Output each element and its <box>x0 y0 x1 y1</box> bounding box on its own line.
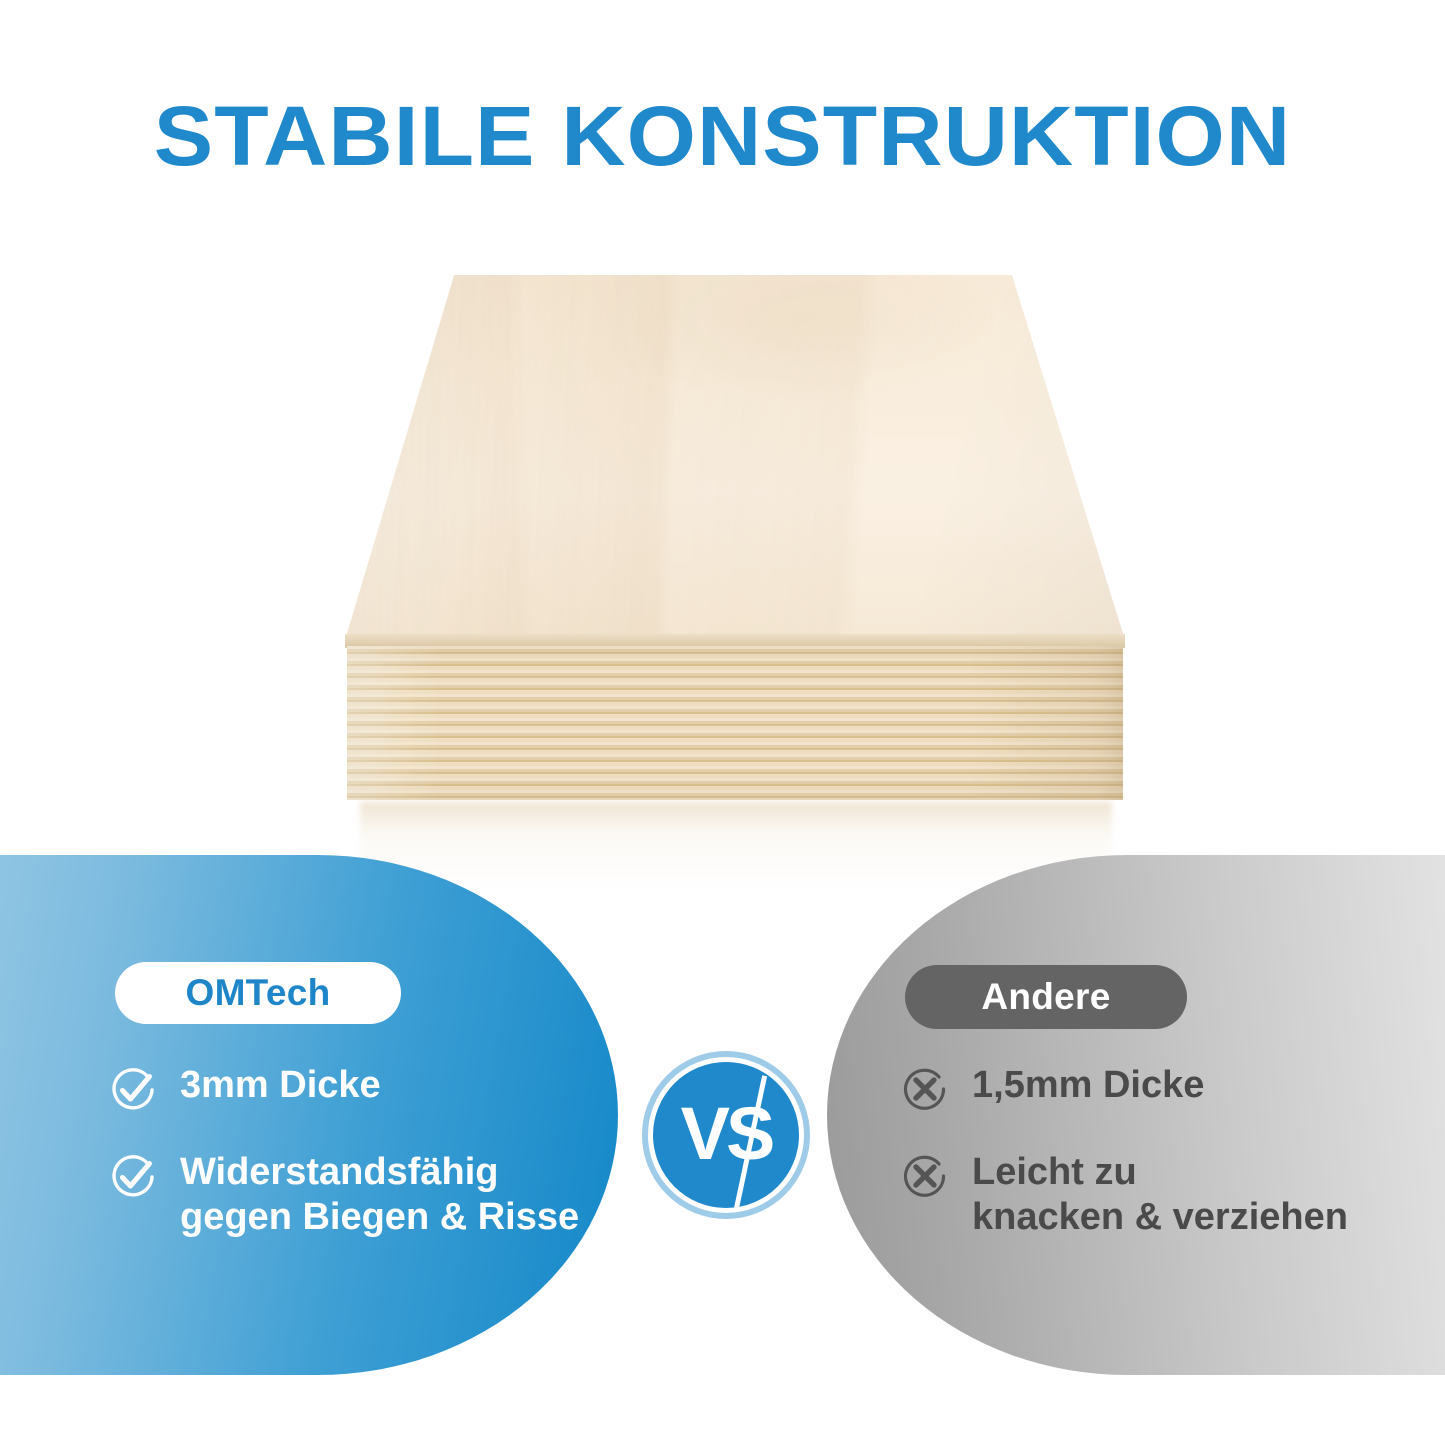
feature-row-theirs-1: 1,5mm Dicke <box>900 1063 1204 1115</box>
check-circle-icon <box>108 1065 158 1115</box>
feature-text-theirs-2: Leicht zu knacken & verziehen <box>972 1150 1348 1240</box>
feature-text-theirs-1: 1,5mm Dicke <box>972 1063 1204 1108</box>
feature-text-theirs-2-line1: Leicht zu <box>972 1151 1137 1193</box>
x-circle-icon <box>900 1065 950 1115</box>
badge-andere-label: Andere <box>981 976 1110 1018</box>
plywood-edge-shading <box>347 646 1123 800</box>
wood-grain-texture <box>345 275 1125 640</box>
feature-row-theirs-2: Leicht zu knacken & verziehen <box>900 1150 1400 1240</box>
feature-row-ours-1: 3mm Dicke <box>108 1063 381 1115</box>
feature-text-ours-1: 3mm Dicke <box>180 1063 381 1108</box>
infographic-canvas: STABILE KONSTRUKTION OMTech Andere 3mm D… <box>0 0 1445 1445</box>
feature-text-theirs-2-line2: knacken & verziehen <box>972 1196 1348 1238</box>
feature-text-ours-2-line2: gegen Biegen & Risse <box>180 1196 579 1238</box>
feature-row-ours-2: Widerstandsfähig gegen Biegen & Risse <box>108 1150 648 1240</box>
product-image-plywood-stack <box>0 250 1445 830</box>
feature-text-ours-2: Widerstandsfähig gegen Biegen & Risse <box>180 1150 579 1240</box>
x-circle-icon <box>900 1152 950 1202</box>
vs-badge: VS <box>633 1042 819 1228</box>
panel-omtech <box>0 855 618 1375</box>
check-circle-icon <box>108 1152 158 1202</box>
badge-omtech: OMTech <box>115 962 401 1024</box>
page-title: STABILE KONSTRUKTION <box>0 92 1445 180</box>
feature-text-ours-2-line1: Widerstandsfähig <box>180 1151 498 1193</box>
vs-circle: VS <box>653 1062 799 1208</box>
badge-omtech-label: OMTech <box>185 972 330 1014</box>
panel-andere <box>827 855 1445 1375</box>
badge-andere: Andere <box>905 965 1187 1029</box>
